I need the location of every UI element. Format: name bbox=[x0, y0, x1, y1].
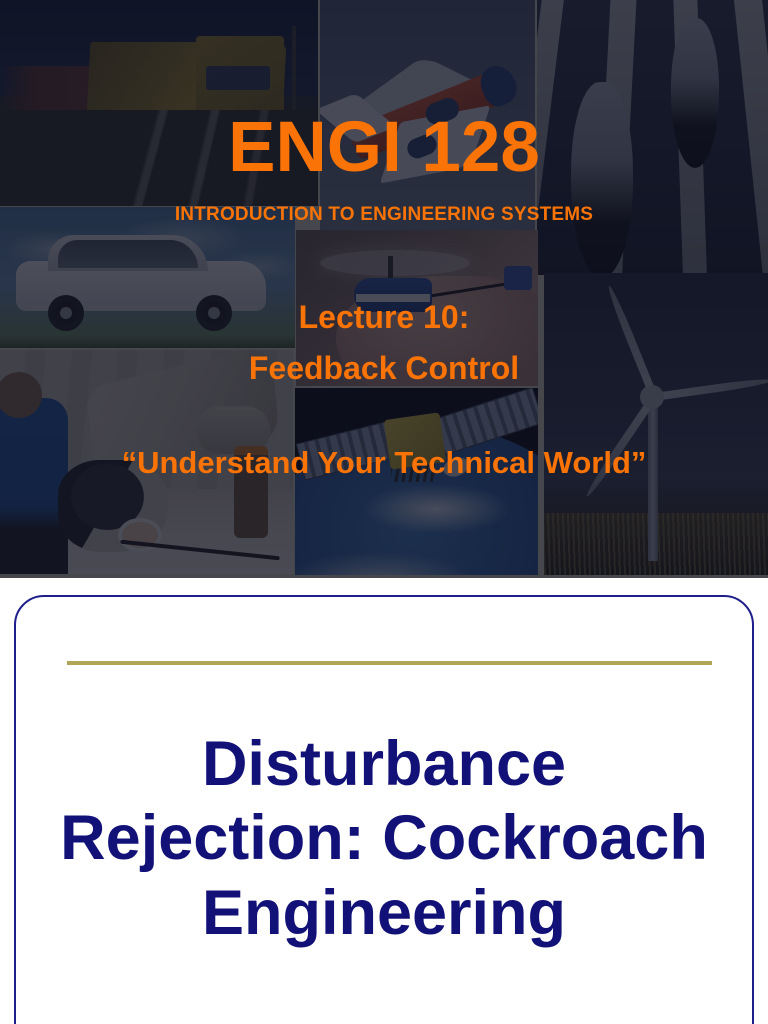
photo-overlay bbox=[296, 230, 538, 386]
slide-content-card: Disturbance Rejection: Cockroach Enginee… bbox=[14, 595, 754, 1024]
photo-overlay bbox=[544, 273, 768, 575]
photo-overlay bbox=[537, 0, 768, 275]
gold-divider-rule bbox=[67, 661, 712, 665]
airplane-photo bbox=[320, 0, 535, 236]
header-image-collage: ENGI 128 INTRODUCTION TO ENGINEERING SYS… bbox=[0, 0, 768, 578]
presentation-slide: ENGI 128 INTRODUCTION TO ENGINEERING SYS… bbox=[0, 0, 768, 1024]
photo-overlay bbox=[0, 350, 293, 574]
rc-helicopter-photo bbox=[296, 230, 538, 386]
robotic-arm-lab-photo bbox=[0, 350, 293, 574]
hybrid-car-photo bbox=[0, 207, 295, 348]
slide-heading: Disturbance Rejection: Cockroach Enginee… bbox=[56, 727, 712, 950]
photo-overlay bbox=[295, 388, 538, 575]
elevator-shaft-photo bbox=[537, 0, 768, 275]
wind-turbine-photo bbox=[544, 273, 768, 575]
photo-overlay bbox=[0, 0, 318, 206]
satellite-earth-photo bbox=[295, 388, 538, 575]
freight-train-photo bbox=[0, 0, 318, 206]
photo-overlay bbox=[320, 0, 535, 236]
photo-overlay bbox=[0, 207, 295, 348]
